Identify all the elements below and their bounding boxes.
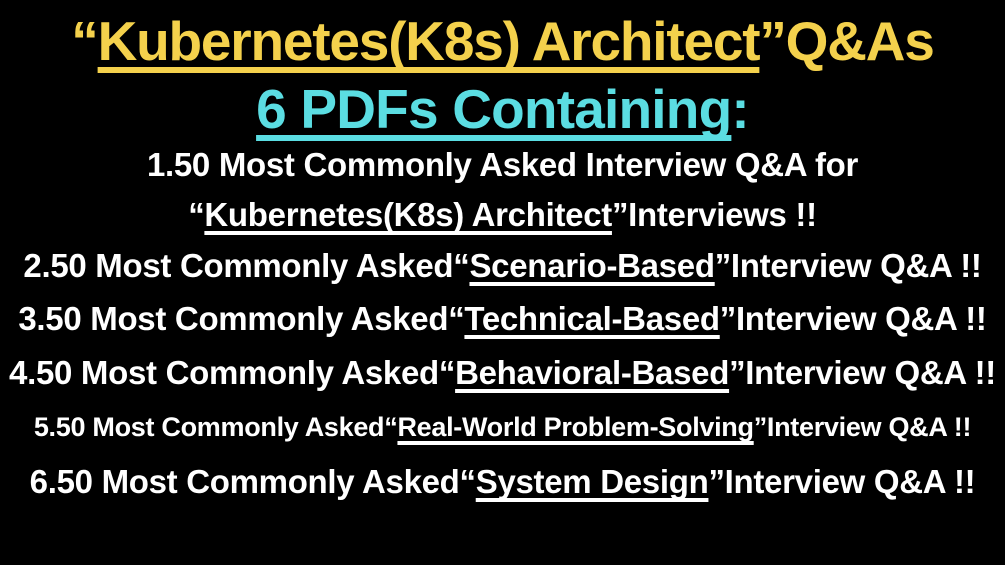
list-item-2: 2. 50 Most Commonly Asked “Scenario-Base… <box>0 240 1005 292</box>
headline-open-quote: “ <box>71 14 97 69</box>
headline-underlined-text: Kubernetes(K8s) Architect <box>98 14 760 69</box>
list-item-1-open-quote: “ <box>188 196 204 234</box>
list-item-6: 6. 50 Most Commonly Asked “System Design… <box>0 454 1005 510</box>
list-item-5-lead: 50 Most Commonly Asked <box>56 412 384 443</box>
list-item-4-lead: 50 Most Commonly Asked <box>36 354 439 392</box>
list-item-1-lead: 50 Most Commonly Asked Interview Q&A for <box>174 146 858 184</box>
list-item-1-tail: Interviews !! <box>628 196 817 234</box>
headline-secondary-underlined-text: 6 PDFs Containing <box>256 82 731 137</box>
list-item-6-number: 6. <box>30 463 57 501</box>
list-item-3-number: 3. <box>18 300 45 338</box>
list-item-6-open-quote: “ <box>460 463 476 501</box>
list-item-1-underlined-term: Kubernetes(K8s) Architect <box>204 196 612 234</box>
list-item-1-line-a: 1. 50 Most Commonly Asked Interview Q&A … <box>0 140 1005 190</box>
list-item-5-tail: Interview Q&A !! <box>767 412 971 443</box>
headline-tail-text: Q&As <box>786 14 934 69</box>
list-item-1-close-quote: ” <box>612 196 628 234</box>
list-item-3-open-quote: “ <box>448 300 464 338</box>
list-item-3-underlined-term: Technical-Based <box>464 300 719 338</box>
promo-poster: “Kubernetes(K8s) Architect” Q&As 6 PDFs … <box>0 0 1005 565</box>
list-item-1-line-b: “Kubernetes(K8s) Architect” Interviews !… <box>0 190 1005 240</box>
list-item-2-open-quote: “ <box>453 247 469 285</box>
list-item-4: 4. 50 Most Commonly Asked “Behavioral-Ba… <box>0 345 1005 400</box>
list-item-2-lead: 50 Most Commonly Asked <box>50 247 453 285</box>
list-item-5-open-quote: “ <box>384 412 397 443</box>
headline-close-quote: ” <box>759 14 785 69</box>
list-item-6-tail: Interview Q&A !! <box>725 463 976 501</box>
list-item-5: 5. 50 Most Commonly Asked “Real-World Pr… <box>0 400 1005 454</box>
headline-secondary: 6 PDFs Containing: <box>0 78 1005 140</box>
list-item-2-underlined-term: Scenario-Based <box>469 247 714 285</box>
list-item-6-close-quote: ” <box>708 463 724 501</box>
headline-primary: “Kubernetes(K8s) Architect” Q&As <box>0 4 1005 78</box>
list-item-1-number: 1. <box>147 146 174 184</box>
list-item-6-underlined-term: System Design <box>476 463 709 501</box>
list-item-5-underlined-term: Real-World Problem-Solving <box>397 412 753 443</box>
list-item-2-tail: Interview Q&A !! <box>731 247 982 285</box>
list-item-3: 3. 50 Most Commonly Asked “Technical-Bas… <box>0 292 1005 345</box>
list-item-2-number: 2. <box>23 247 50 285</box>
list-item-2-close-quote: ” <box>715 247 731 285</box>
list-item-4-open-quote: “ <box>439 354 455 392</box>
list-item-3-lead: 50 Most Commonly Asked <box>45 300 448 338</box>
list-item-4-number: 4. <box>9 354 36 392</box>
list-item-4-tail: Interview Q&A !! <box>745 354 996 392</box>
list-item-3-tail: Interview Q&A !! <box>736 300 987 338</box>
list-item-4-underlined-term: Behavioral-Based <box>455 354 729 392</box>
headline-secondary-colon: : <box>731 82 749 137</box>
list-item-3-close-quote: ” <box>720 300 736 338</box>
list-item-6-lead: 50 Most Commonly Asked <box>57 463 460 501</box>
list-item-5-number: 5. <box>34 412 56 443</box>
list-item-4-close-quote: ” <box>729 354 745 392</box>
list-item-5-close-quote: ” <box>754 412 767 443</box>
